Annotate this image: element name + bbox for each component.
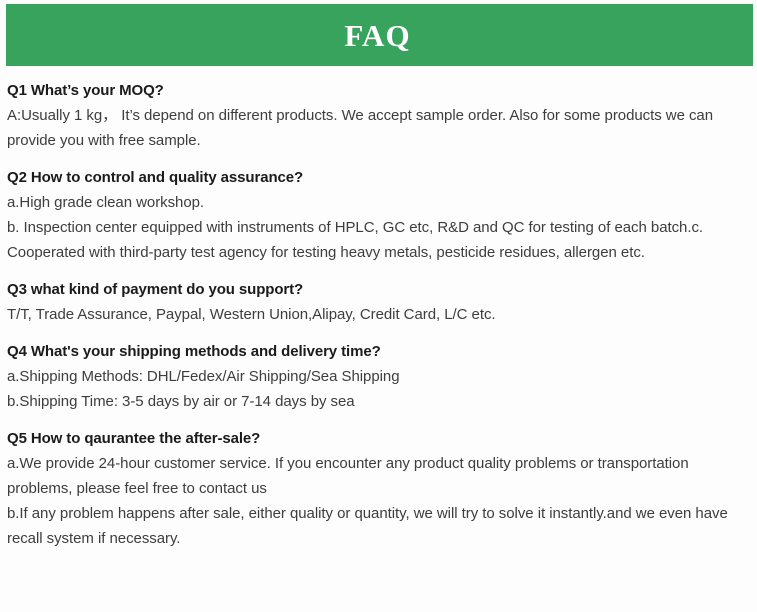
faq-answer: b. Inspection center equipped with instr… [7, 215, 747, 265]
faq-answer: b.Shipping Time: 3-5 days by air or 7-14… [7, 389, 747, 414]
faq-question: Q3 what kind of payment do you support? [7, 277, 747, 302]
faq-item: Q3 what kind of payment do you support? … [7, 277, 747, 327]
faq-question: Q2 How to control and quality assurance? [7, 165, 747, 190]
faq-item: Q1 What’s your MOQ? A:Usually 1 kg， It’s… [7, 78, 747, 153]
faq-banner: FAQ [6, 4, 753, 66]
faq-answer: a.High grade clean workshop. [7, 190, 747, 215]
faq-page: FAQ Q1 What’s your MOQ? A:Usually 1 kg， … [0, 0, 757, 612]
faq-answer: T/T, Trade Assurance, Paypal, Western Un… [7, 302, 747, 327]
faq-item: Q4 What's your shipping methods and deli… [7, 339, 747, 414]
faq-answer: b.If any problem happens after sale, eit… [7, 501, 747, 551]
faq-banner-title: FAQ [344, 20, 410, 51]
faq-item: Q2 How to control and quality assurance?… [7, 165, 747, 265]
faq-question: Q5 How to qaurantee the after-sale? [7, 426, 747, 451]
faq-content: Q1 What’s your MOQ? A:Usually 1 kg， It’s… [7, 78, 747, 551]
faq-answer: A:Usually 1 kg， It’s depend on different… [7, 103, 747, 153]
faq-item: Q5 How to qaurantee the after-sale? a.We… [7, 426, 747, 551]
faq-question: Q1 What’s your MOQ? [7, 78, 747, 103]
faq-answer: a.Shipping Methods: DHL/Fedex/Air Shippi… [7, 364, 747, 389]
faq-question: Q4 What's your shipping methods and deli… [7, 339, 747, 364]
faq-answer: a.We provide 24-hour customer service. I… [7, 451, 747, 501]
